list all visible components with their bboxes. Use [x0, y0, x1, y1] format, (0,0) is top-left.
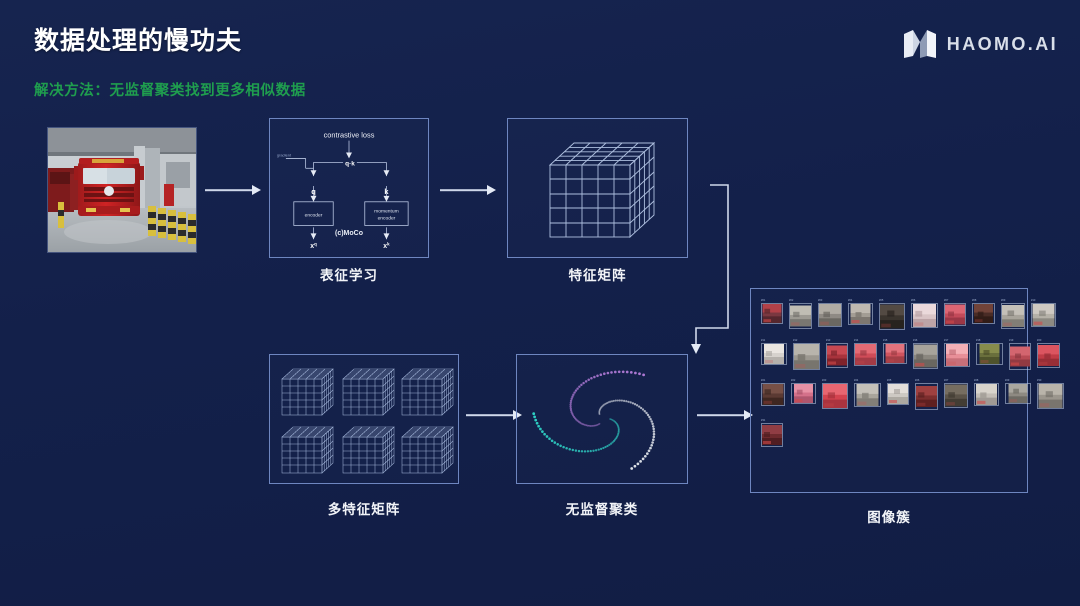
thumbnail-item[interactable]: #04 — [848, 299, 873, 325]
slide-root: 数据处理的慢功夫 解决方法：无监督聚类找到更多相似数据 HAOMO.AI — [0, 0, 1080, 606]
thumbnail-row: #21#22#23#24#25#26#27#28#29#30 — [761, 379, 1017, 410]
six-wireframe-cubes-icon — [270, 355, 460, 485]
thumbnail-item[interactable]: #26 — [915, 379, 938, 410]
thumbnail-image — [818, 303, 842, 327]
moco-input-q-label: xq — [310, 242, 317, 250]
thumbnail-item[interactable]: #01 — [761, 299, 783, 324]
label-image-cluster: 图像簇 — [750, 506, 1028, 526]
thumbnail-image — [822, 383, 848, 409]
thumbnail-row: #01#02#03#04#05#06#07#08#09#10 — [761, 299, 1017, 330]
haomo-m-logo-icon — [903, 29, 937, 59]
moco-momentum-encoder-label: momentum — [374, 209, 399, 215]
moco-query-label: q — [311, 187, 316, 196]
thumbnail-image — [854, 343, 877, 366]
truck-at-toll-station-photo — [48, 128, 196, 252]
spiral-scatter-plot — [517, 355, 689, 485]
panel-image-cluster: #01#02#03#04#05#06#07#08#09#10#11#12#13#… — [750, 288, 1028, 493]
page-subtitle: 解决方法：无监督聚类找到更多相似数据 — [34, 79, 306, 100]
thumbnail-item[interactable]: #27 — [944, 379, 968, 408]
thumbnail-item[interactable]: #19 — [1009, 339, 1031, 370]
moco-gradient-label: gradient — [277, 152, 292, 157]
thumbnail-item[interactable]: #21 — [761, 379, 785, 406]
arrow-moco-to-cube — [440, 184, 496, 196]
thumbnail-image — [972, 303, 995, 324]
thumbnail-image — [761, 343, 787, 365]
thumbnail-item[interactable]: #13 — [826, 339, 848, 368]
thumbnail-item[interactable]: #23 — [822, 379, 848, 409]
thumbnail-image — [1009, 343, 1031, 370]
thumbnail-image — [944, 343, 970, 367]
thumbnail-image — [944, 383, 968, 408]
thumbnail-item[interactable]: #22 — [791, 379, 816, 404]
arrow-photo-to-moco — [205, 184, 261, 196]
thumbnail-image — [1031, 303, 1056, 327]
page-title: 数据处理的慢功夫 — [34, 28, 242, 56]
thumbnail-item[interactable]: #31 — [761, 419, 783, 447]
thumbnail-image — [791, 383, 816, 404]
thumbnail-image — [761, 383, 785, 406]
thumbnail-item[interactable]: #14 — [854, 339, 877, 366]
thumbnail-item[interactable]: #03 — [818, 299, 842, 327]
thumbnail-image — [913, 343, 938, 369]
thumbnail-item[interactable]: #28 — [974, 379, 999, 406]
thumbnail-item[interactable]: #20 — [1037, 339, 1060, 368]
thumbnail-image — [911, 303, 938, 328]
thumbnail-row: #31 — [761, 419, 1017, 447]
thumbnail-item[interactable]: #30 — [1037, 379, 1064, 409]
thumbnail-image — [974, 383, 999, 406]
thumbnail-row: #11#12#13#14#15#16#17#18#19#20 — [761, 339, 1017, 370]
arrow-cluster-to-images — [697, 409, 753, 421]
panel-representation-learning: contrastive loss q·k q k gradient encode… — [269, 118, 429, 258]
thumbnail-image — [1005, 383, 1031, 404]
wireframe-cube-icon — [508, 119, 689, 259]
thumbnail-item[interactable]: #07 — [944, 299, 966, 326]
thumbnail-image — [887, 383, 909, 405]
moco-encoder-label: encoder — [305, 213, 323, 219]
moco-contrastive-loss-label: contrastive loss — [324, 131, 375, 140]
thumbnail-image — [793, 343, 820, 370]
thumbnail-item[interactable]: #10 — [1031, 299, 1056, 327]
brand-logo: HAOMO.AI — [903, 29, 1058, 59]
logo-text: HAOMO.AI — [947, 34, 1058, 55]
thumbnail-image — [915, 383, 938, 410]
thumbnail-item[interactable]: #11 — [761, 339, 787, 365]
thumbnail-item[interactable]: #05 — [879, 299, 905, 330]
thumbnail-item[interactable]: #29 — [1005, 379, 1031, 404]
thumbnail-image — [854, 383, 881, 407]
moco-title-label: (c)MoCo — [269, 230, 429, 237]
thumbnail-image — [826, 343, 848, 368]
thumbnail-item[interactable]: #09 — [1001, 299, 1025, 329]
thumbnail-image — [848, 303, 873, 325]
thumbnail-item[interactable]: #18 — [976, 339, 1003, 365]
thumbnail-image — [879, 303, 905, 330]
panel-multi-feature-matrix — [269, 354, 459, 484]
thumbnail-image — [761, 423, 783, 447]
thumbnail-item[interactable]: #16 — [913, 339, 938, 369]
label-feature-matrix: 特征矩阵 — [507, 264, 688, 284]
thumbnail-image — [1001, 303, 1025, 329]
label-multi-feature-matrix: 多特征矩阵 — [269, 498, 459, 518]
svg-text:encoder: encoder — [378, 216, 396, 222]
moco-key-label: k — [384, 187, 389, 196]
thumbnail-item[interactable]: #08 — [972, 299, 995, 324]
thumbnail-image — [761, 303, 783, 324]
thumbnail-image — [883, 343, 907, 364]
thumbnail-item[interactable]: #06 — [911, 299, 938, 328]
thumbnail-image — [789, 303, 812, 329]
label-representation-learning: 表征学习 — [269, 264, 429, 284]
thumbnail-image — [1037, 383, 1064, 409]
thumbnail-item[interactable]: #02 — [789, 299, 812, 329]
label-unsupervised-clustering: 无监督聚类 — [516, 498, 688, 518]
panel-feature-matrix — [507, 118, 688, 258]
arrow-multicube-to-cluster — [466, 409, 522, 421]
thumbnail-image — [944, 303, 966, 326]
thumbnail-image — [1037, 343, 1060, 368]
thumbnail-item[interactable]: #12 — [793, 339, 820, 370]
thumbnail-item[interactable]: #17 — [944, 339, 970, 367]
thumbnail-image — [976, 343, 1003, 365]
moco-input-k-label: xk — [383, 242, 390, 250]
moco-similarity-label: q·k — [345, 160, 355, 167]
thumbnail-grid: #01#02#03#04#05#06#07#08#09#10#11#12#13#… — [761, 299, 1017, 482]
thumbnail-item[interactable]: #15 — [883, 339, 907, 364]
panel-unsupervised-clustering — [516, 354, 688, 484]
thumbnail-item[interactable]: #24 — [854, 379, 881, 407]
thumbnail-item[interactable]: #25 — [887, 379, 909, 405]
